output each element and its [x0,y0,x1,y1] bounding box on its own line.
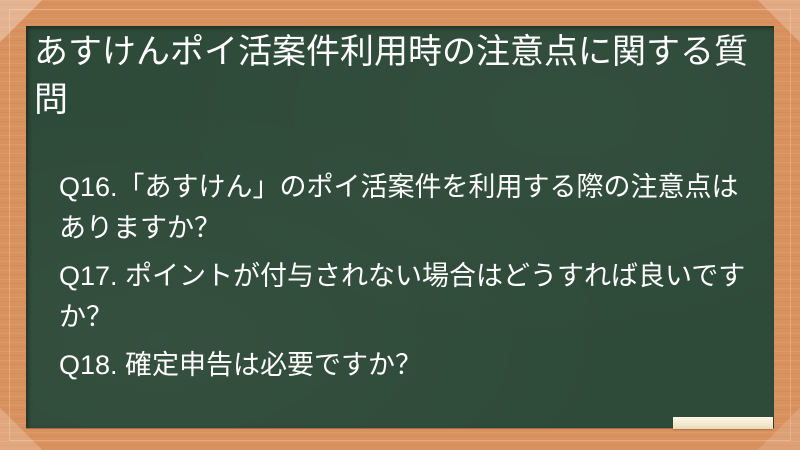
chalkboard-wooden-frame: あすけんポイ活案件利用時の注意点に関する質問 Q16.「あすけん」のポイ活案件を… [0,0,800,450]
chalk-eraser-icon [673,417,773,429]
list-item: Q16.「あすけん」のポイ活案件を利用する際の注意点はありますか？ [59,167,759,249]
question-list: Q16.「あすけん」のポイ活案件を利用する際の注意点はありますか？ Q17. ポ… [59,167,759,393]
list-item: Q18. 確定申告は必要ですか？ [59,345,759,386]
blackboard: あすけんポイ活案件利用時の注意点に関する質問 Q16.「あすけん」のポイ活案件を… [26,26,774,428]
list-item: Q17. ポイントが付与されない場合はどうすれば良いですか？ [59,256,759,338]
page-title: あすけんポイ活案件利用時の注意点に関する質問 [34,28,760,124]
